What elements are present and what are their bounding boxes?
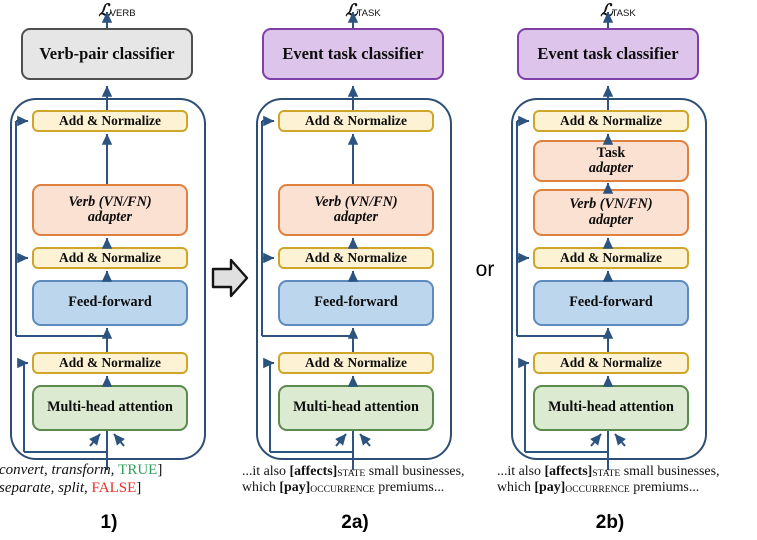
panel-1: ℒVERB Verb-pair classifier Add & Normali… xyxy=(2,0,232,540)
transfer-arrow-icon xyxy=(210,256,250,300)
panel-2b-caption: ...it also [affects]STATE small business… xyxy=(497,464,743,497)
text-part: ...it also xyxy=(242,464,289,479)
text-part: small businesses, xyxy=(620,464,719,479)
text-part: premiums... xyxy=(630,480,699,495)
text-part: which xyxy=(242,480,279,495)
panel-2b: ℒTASK Event task classifier Add & Normal… xyxy=(503,0,733,540)
caption-line-2: which [pay]OCCURRENCE premiums... xyxy=(242,480,488,496)
text-part: premiums... xyxy=(375,480,444,495)
caption-line-1: ...it also [affects]STATE small business… xyxy=(242,464,488,480)
verb-1: separate xyxy=(0,480,51,496)
caption-line-2: which [pay]OCCURRENCE premiums... xyxy=(497,480,743,496)
text-part: small businesses, xyxy=(365,464,464,479)
figure-canvas: ℒVERB Verb-pair classifier Add & Normali… xyxy=(0,0,757,540)
label-false: FALSE xyxy=(92,480,137,496)
bracket-close: ] xyxy=(157,462,162,478)
label-true: TRUE xyxy=(118,462,157,478)
text-part: which xyxy=(497,480,534,495)
panel-2a-caption: ...it also [affects]STATE small business… xyxy=(242,464,488,497)
event-type-subscript: OCCURRENCE xyxy=(310,484,375,495)
event-type-subscript: STATE xyxy=(337,468,365,479)
verb-2: transform xyxy=(51,462,110,478)
caption-line-2: [separate, split, FALSE] xyxy=(0,480,240,498)
connection-wires xyxy=(248,0,478,540)
event-trigger: [pay] xyxy=(534,480,565,495)
or-label: or xyxy=(462,258,508,282)
bracket-close: ] xyxy=(136,480,141,496)
event-type-subscript: OCCURRENCE xyxy=(565,484,630,495)
event-type-subscript: STATE xyxy=(592,468,620,479)
connection-wires xyxy=(2,0,232,540)
verb-2: split xyxy=(58,480,84,496)
panel-1-caption: [convert, transform, TRUE] [separate, sp… xyxy=(0,462,240,497)
event-trigger: [pay] xyxy=(279,480,310,495)
text-part: ...it also xyxy=(497,464,544,479)
panel-2a-label: 2a) xyxy=(240,512,470,534)
caption-line-1: [convert, transform, TRUE] xyxy=(0,462,240,480)
panel-2a: ℒTASK Event task classifier Add & Normal… xyxy=(248,0,478,540)
event-trigger: [affects] xyxy=(289,464,337,479)
verb-1: convert xyxy=(0,462,44,478)
panel-2b-label: 2b) xyxy=(495,512,725,534)
panel-1-label: 1) xyxy=(0,512,224,534)
caption-line-1: ...it also [affects]STATE small business… xyxy=(497,464,743,480)
event-trigger: [affects] xyxy=(544,464,592,479)
connection-wires xyxy=(503,0,733,540)
sep: , xyxy=(84,480,92,496)
